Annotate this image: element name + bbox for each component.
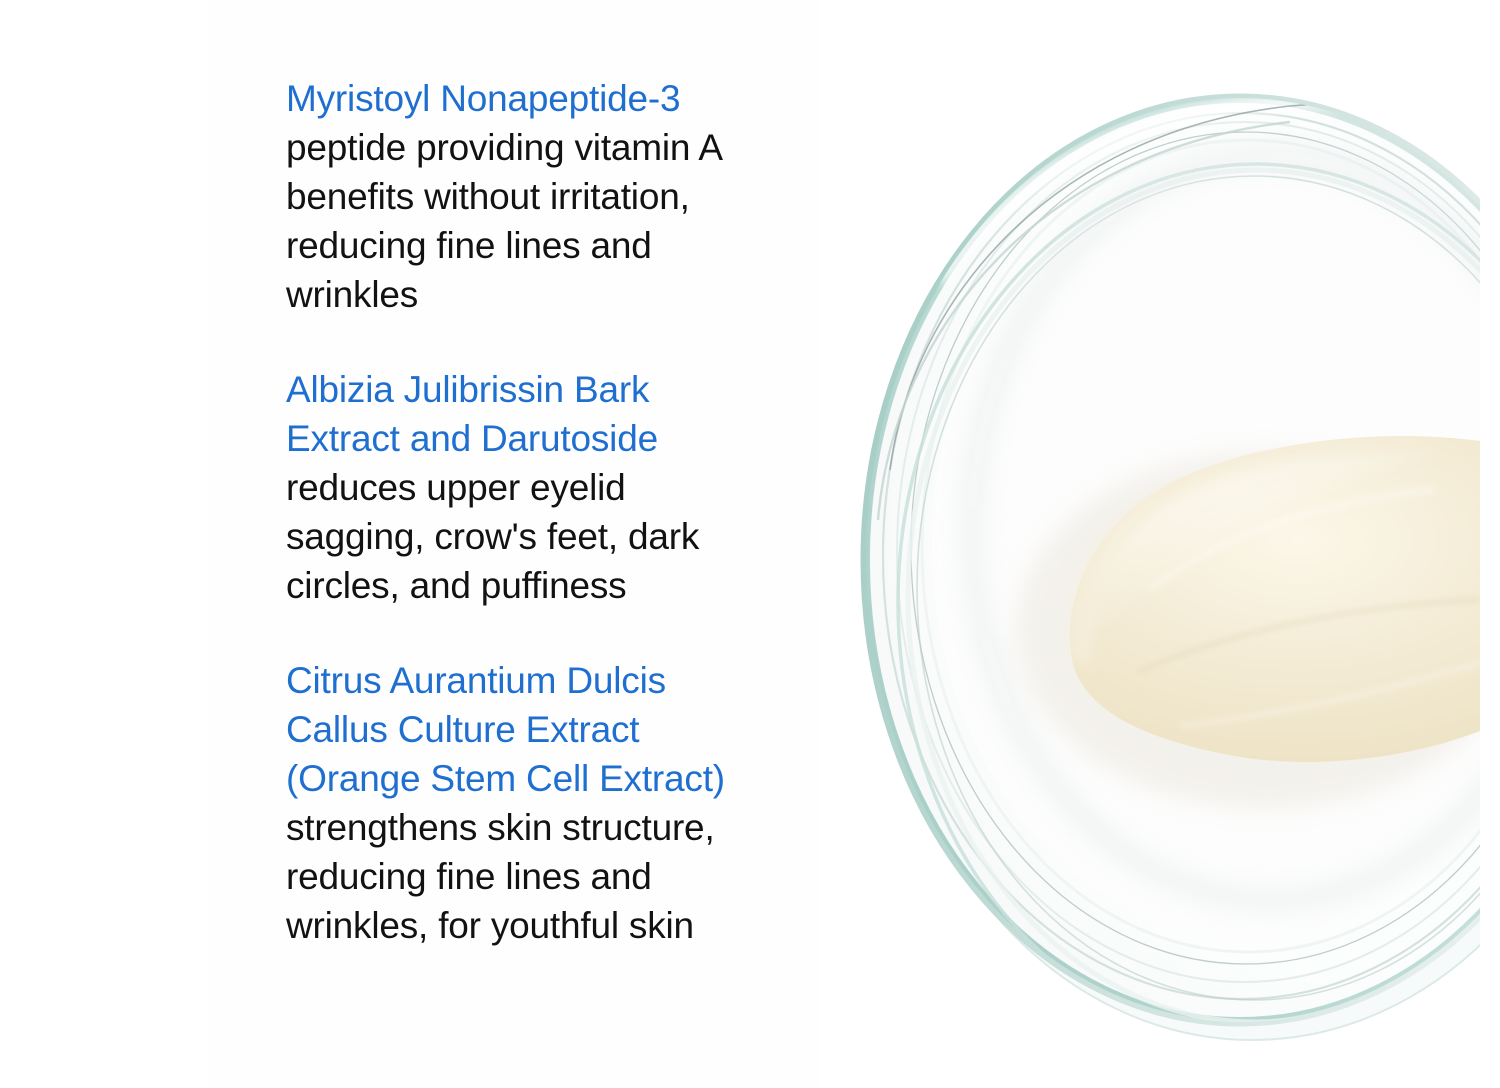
ingredient-name: Myristoyl Nonapeptide-3 xyxy=(286,74,826,123)
ingredient-list: Myristoyl Nonapeptide-3 peptide providin… xyxy=(286,74,826,950)
product-photo-petri-dish xyxy=(820,0,1500,1088)
left-margin-area xyxy=(0,0,207,1088)
photo-right-crop-mask xyxy=(1480,0,1500,1088)
ingredient-description: reduces upper eyelid sagging, crow's fee… xyxy=(286,463,826,610)
petri-dish-illustration xyxy=(820,0,1500,1088)
product-ingredients-panel: Myristoyl Nonapeptide-3 peptide providin… xyxy=(0,0,1500,1088)
ingredient-description: strengthens skin structure, reducing fin… xyxy=(286,803,826,950)
ingredient-item: Albizia Julibrissin Bark Extract and Dar… xyxy=(286,365,826,610)
ingredient-description: peptide providing vitamin A benefits wit… xyxy=(286,123,826,319)
ingredient-name: Albizia Julibrissin Bark Extract and Dar… xyxy=(286,365,826,463)
ingredient-item: Citrus Aurantium Dulcis Callus Culture E… xyxy=(286,656,826,950)
ingredient-item: Myristoyl Nonapeptide-3 peptide providin… xyxy=(286,74,826,319)
ingredient-name: Citrus Aurantium Dulcis Callus Culture E… xyxy=(286,656,826,803)
